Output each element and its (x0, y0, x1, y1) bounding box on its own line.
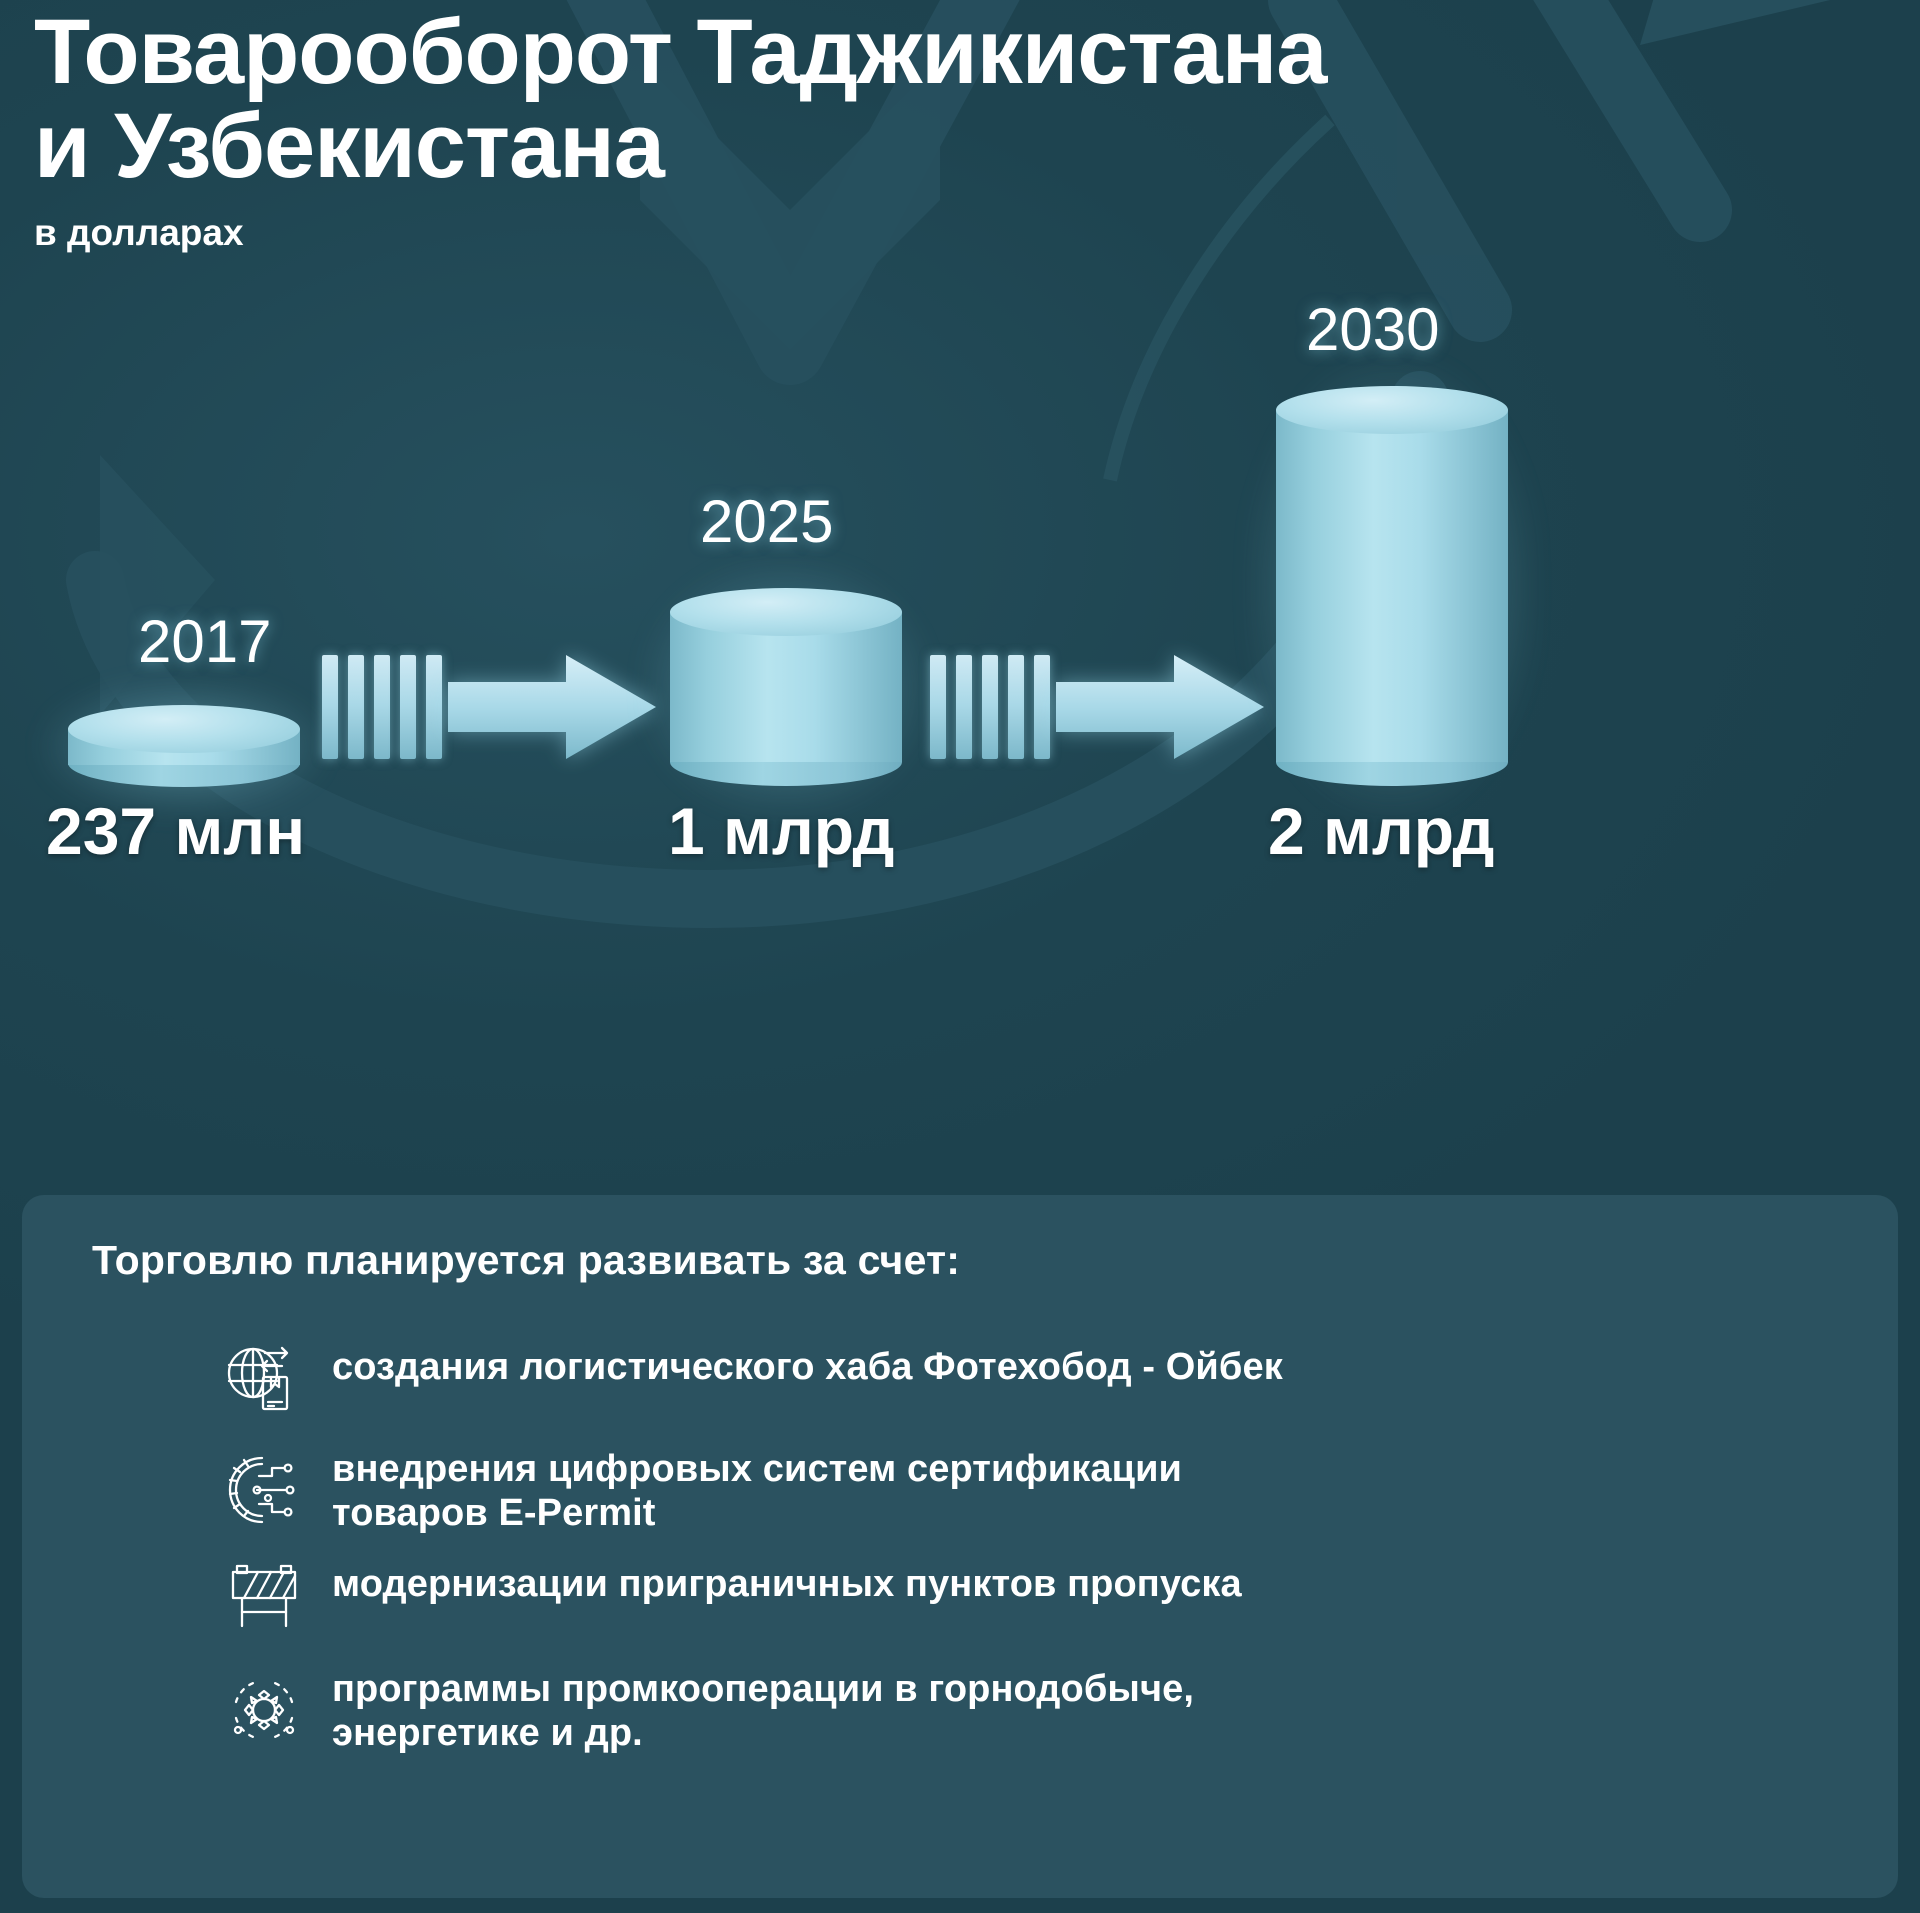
gear-circuit-icon (218, 1444, 310, 1536)
arrow-dash (322, 655, 338, 759)
list-item: создания логистического хаба Фотехобод -… (218, 1333, 1858, 1425)
header: Товарооборот Таджикистана и Узбекистана … (34, 6, 1894, 254)
arrow-dash (374, 655, 390, 759)
list-item: программы промкооперации в горнодобыче, … (218, 1664, 1858, 1756)
arrow-head (1056, 655, 1264, 759)
arrow-dash (426, 655, 442, 759)
list-item: модернизации приграничных пунктов пропус… (218, 1550, 1858, 1642)
value-label-2030: 2 млрд (1268, 793, 1494, 869)
arrow-dash (956, 655, 972, 759)
arrow-2017-to-2025 (322, 655, 656, 759)
arrow-2025-to-2030 (930, 655, 1264, 759)
page-subtitle: в долларах (34, 212, 1894, 254)
arrow-dash (400, 655, 416, 759)
arrow-dash (930, 655, 946, 759)
arrow-dash (1008, 655, 1024, 759)
list-item-text: внедрения цифровых систем сертификации т… (332, 1444, 1182, 1536)
page-title: Товарооборот Таджикистана и Узбекистана (34, 6, 1894, 194)
cylinder-top (670, 588, 902, 636)
road-barrier-icon (218, 1550, 310, 1642)
cylinder-body (1276, 410, 1508, 762)
cylinder-top (1276, 386, 1508, 434)
cylinder-2025 (670, 588, 902, 788)
list-item: внедрения цифровых систем сертификации т… (218, 1444, 1858, 1536)
cog-industry-icon (218, 1664, 310, 1756)
year-label-2030: 2030 (1306, 295, 1439, 364)
year-label-2017: 2017 (138, 607, 271, 676)
cylinder-2030 (1276, 386, 1508, 788)
plans-panel: Торговлю планируется развивать за счет: (22, 1195, 1898, 1898)
cylinder-2017 (68, 705, 300, 789)
list-item-text: модернизации приграничных пунктов пропус… (332, 1550, 1242, 1606)
list-item-text: создания логистического хаба Фотехобод -… (332, 1333, 1283, 1389)
panel-title: Торговлю планируется развивать за счет: (92, 1237, 960, 1284)
value-label-2017: 237 млн (46, 793, 305, 869)
arrow-dash (1034, 655, 1050, 759)
arrow-dash (348, 655, 364, 759)
cylinder-top (68, 705, 300, 753)
list-item-text: программы промкооперации в горнодобыче, … (332, 1664, 1194, 1756)
value-label-2025: 1 млрд (668, 793, 894, 869)
arrow-head (448, 655, 656, 759)
infographic-page: Товарооборот Таджикистана и Узбекистана … (0, 0, 1920, 1913)
arrow-dash (982, 655, 998, 759)
plans-list: создания логистического хаба Фотехобод -… (218, 1333, 1858, 1775)
year-label-2025: 2025 (700, 487, 833, 556)
globe-logistics-icon (218, 1333, 310, 1425)
